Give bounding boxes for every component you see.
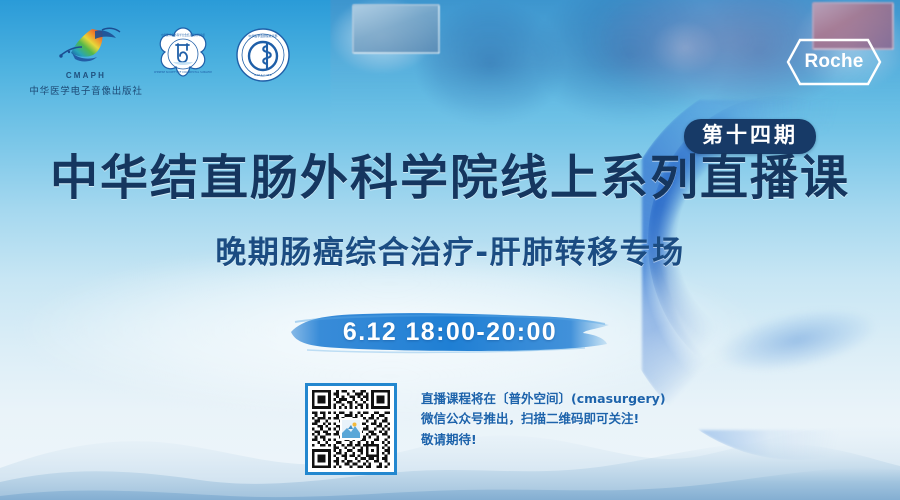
ink-brush-splash: [691, 282, 900, 428]
cmaph-rainbow-icon: [48, 26, 124, 70]
subscribe-section: 直播课程将在〔普外空间〕(cmasurgery) 微信公众号推出，扫描二维码即可…: [305, 383, 666, 475]
svg-text:中华医学会继续教育部: 中华医学会继续教育部: [249, 33, 278, 38]
organizer-logos: CMAPH 中华医学电子音像出版社 中华医学会外科学分会结直肠外科学组 CHIN…: [40, 26, 292, 97]
episode-badge: 第十四期: [684, 119, 816, 154]
live-course-poster-banner: CMAPH 中华医学电子音像出版社 中华医学会外科学分会结直肠外科学组 CHIN…: [0, 0, 900, 500]
cmaph-logo: CMAPH 中华医学电子音像出版社: [40, 26, 132, 97]
roche-logo: Roche: [786, 38, 882, 86]
qr-center-glyph: [342, 420, 360, 438]
chinese-medical-association-emblem: 中华医学会继续教育部 C M A C M E: [234, 26, 292, 84]
page-title: 中华结直肠外科学院线上系列直播课: [0, 154, 900, 202]
svg-text:CHINESE SOCIETY OF COLORECTAL: CHINESE SOCIETY OF COLORECTAL SURGERY: [154, 70, 212, 74]
schedule-text: 6.12 18:00-20:00: [285, 308, 615, 356]
wechat-qr-code[interactable]: [305, 383, 397, 475]
cmaph-chinese-label: 中华医学电子音像出版社: [29, 83, 142, 97]
subscribe-note: 直播课程将在〔普外空间〕(cmasurgery) 微信公众号推出，扫描二维码即可…: [421, 383, 666, 450]
svg-text:中华医学会外科学分会结直肠外科学组: 中华医学会外科学分会结直肠外科学组: [161, 33, 206, 37]
page-subtitle: 晚期肠癌综合治疗-肝肺转移专场: [0, 238, 900, 269]
note-line-1: 直播课程将在〔普外空间〕(cmasurgery): [421, 389, 666, 409]
colorectal-society-emblem: 中华医学会外科学分会结直肠外科学组 CHINESE SOCIETY OF COL…: [154, 26, 212, 84]
cmaph-latin-label: CMAPH: [66, 71, 106, 80]
schedule-band: 6.12 18:00-20:00: [285, 308, 615, 356]
roche-label: Roche: [786, 38, 882, 86]
note-line-3: 敬请期待!: [421, 430, 666, 450]
note-line-2: 微信公众号推出，扫描二维码即可关注!: [421, 409, 666, 429]
or-monitor-left: [352, 4, 440, 54]
svg-text:C M A C M E: C M A C M E: [254, 73, 272, 77]
wechat-account-logo: [340, 418, 362, 440]
